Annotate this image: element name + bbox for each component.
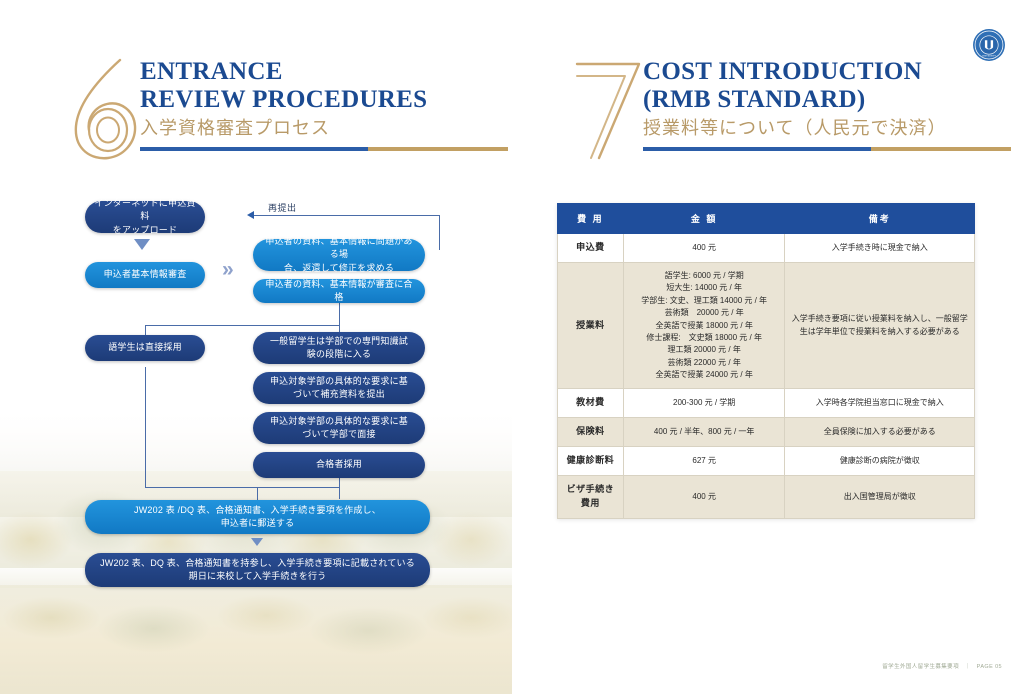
- flow-node-extra-docs[interactable]: 申込対象学部の具体的な要求に基 づいて補充資料を提出: [253, 372, 425, 404]
- table-row: ビザ手続き 費用 400 元 出入国管理局が徴収: [558, 476, 975, 519]
- flow-node-lang-direct[interactable]: 語学生は直接採用: [85, 335, 205, 361]
- fee-table: 費 用 金 額 備考 申込費 400 元 入学手続き時に現金で納入 授業料 語学…: [557, 203, 975, 519]
- connector-resubmit-horizontal: [254, 215, 440, 216]
- cell-fee-note: 健康診断の病院が徴収: [785, 447, 975, 476]
- arrow-mail-to-enroll: [251, 538, 263, 546]
- col-header-fee: 費 用: [558, 204, 624, 234]
- rule-gold-segment: [871, 147, 1011, 151]
- cell-fee-amount: 627 元: [623, 447, 785, 476]
- cell-fee-note: 入学手続き時に現金で納入: [785, 234, 975, 263]
- connector-merge-horizontal: [145, 487, 340, 488]
- table-row: 保険料 400 元 / 半年、800 元 / 一年 全員保険に加入する必要がある: [558, 418, 975, 447]
- rule-navy-segment: [643, 147, 871, 151]
- rule-navy-segment: [140, 147, 368, 151]
- rule-gold-segment: [368, 147, 508, 151]
- header-right-texts: COST INTRODUCTION (RMB STANDARD) 授業料等につい…: [643, 58, 1024, 151]
- cell-fee-note: 入学手続き要項に従い授業料を納入し、一般留学生は学年単位で授業料を納入する必要が…: [785, 262, 975, 389]
- cell-fee-name: 申込費: [558, 234, 624, 263]
- cell-fee-amount: 200-300 元 / 学期: [623, 389, 785, 418]
- flow-label-resubmit: 再提出: [268, 201, 297, 214]
- flow-node-review-pass[interactable]: 申込者の資料、基本情報が審査に合格: [253, 279, 425, 303]
- table-row: 健康診断料 627 元 健康診断の病院が徴収: [558, 447, 975, 476]
- admission-flowchart: 再提出 » インターネットに申込資料 をアップロード 申込者基本情報審査 申込者…: [0, 195, 512, 595]
- flow-node-basic-review[interactable]: 申込者基本情報審査: [85, 262, 205, 288]
- connector-accepted-down: [339, 477, 340, 499]
- connector-branch-horizontal: [145, 325, 340, 326]
- table-row: 教材費 200-300 元 / 学期 入学時各学院担当窓口に現金で納入: [558, 389, 975, 418]
- brochure-page: UNIVERSITY ENTRANCE REVIEW PROCEDURES 入学…: [0, 0, 1024, 694]
- page-footer: 留学生外国人留学生募集要項 ｜ PAGE 05: [882, 662, 1002, 670]
- cell-fee-name: 教材費: [558, 389, 624, 418]
- header-left-texts: ENTRANCE REVIEW PROCEDURES 入学資格審査プロセス: [140, 58, 532, 151]
- table-row: 授業料 語学生: 6000 元 / 学期 短大生: 14000 元 / 年 学部…: [558, 262, 975, 389]
- page-title-jp-left: 入学資格審査プロセス: [140, 117, 532, 140]
- title-rule-right: [643, 147, 1011, 151]
- cell-fee-name: 保険料: [558, 418, 624, 447]
- flow-node-upload[interactable]: インターネットに申込資料 をアップロード: [85, 201, 205, 233]
- flow-node-major-exam[interactable]: 一般留学生は学部での専門知識試 験の段階に入る: [253, 332, 425, 364]
- connector-resubmit-arrowhead: [247, 211, 254, 219]
- flow-node-onsite-enroll[interactable]: JW202 表、DQ 表、合格通知書を持参し、入学手続き要項に記載されている 期…: [85, 553, 430, 587]
- page-title-jp-right: 授業料等について（人民元で決済）: [643, 117, 1024, 140]
- title-rule-left: [140, 147, 508, 151]
- cell-fee-note: 入学時各学院担当窓口に現金で納入: [785, 389, 975, 418]
- section-number-7-icon: [565, 54, 651, 164]
- page-title-en-right: COST INTRODUCTION (RMB STANDARD): [643, 58, 1024, 114]
- table-row: 申込費 400 元 入学手続き時に現金で納入: [558, 234, 975, 263]
- cell-fee-amount: 400 元: [623, 234, 785, 263]
- section-number-6-icon: [62, 54, 148, 164]
- flow-node-interview[interactable]: 申込対象学部の具体的な要求に基 づいて学部で面接: [253, 412, 425, 444]
- cell-fee-name: 健康診断料: [558, 447, 624, 476]
- page-title-en-left: ENTRANCE REVIEW PROCEDURES: [140, 58, 532, 114]
- flow-node-mail-docs[interactable]: JW202 表 /DQ 表、合格通知書、入学手続き要項を作成し、 申込者に郵送す…: [85, 500, 430, 534]
- col-header-note: 備考: [785, 204, 975, 234]
- cell-fee-amount: 400 元: [623, 476, 785, 519]
- flow-node-return-fix[interactable]: 申込者の資料、基本情報に問題がある場 合、返還して修正を求める: [253, 239, 425, 271]
- flow-node-accepted[interactable]: 合格者採用: [253, 452, 425, 478]
- section-header-left: ENTRANCE REVIEW PROCEDURES 入学資格審査プロセス: [62, 58, 532, 151]
- cell-fee-note: 全員保険に加入する必要がある: [785, 418, 975, 447]
- cell-fee-note: 出入国管理局が徴収: [785, 476, 975, 519]
- cell-fee-amount: 400 元 / 半年、800 元 / 一年: [623, 418, 785, 447]
- university-seal-icon: UNIVERSITY: [972, 28, 1006, 62]
- section-header-right: COST INTRODUCTION (RMB STANDARD) 授業料等につい…: [565, 58, 1024, 151]
- col-header-amount: 金 額: [623, 204, 785, 234]
- fee-table-header-row: 費 用 金 額 備考: [558, 204, 975, 234]
- double-chevron-icon: »: [222, 259, 234, 280]
- cell-fee-amount: 語学生: 6000 元 / 学期 短大生: 14000 元 / 年 学部生: 文…: [623, 262, 785, 389]
- connector-lang-down: [145, 367, 146, 487]
- arrow-upload-to-review: [134, 239, 150, 250]
- cell-fee-name: 授業料: [558, 262, 624, 389]
- cell-fee-name: ビザ手続き 費用: [558, 476, 624, 519]
- connector-resubmit-vertical: [439, 215, 440, 250]
